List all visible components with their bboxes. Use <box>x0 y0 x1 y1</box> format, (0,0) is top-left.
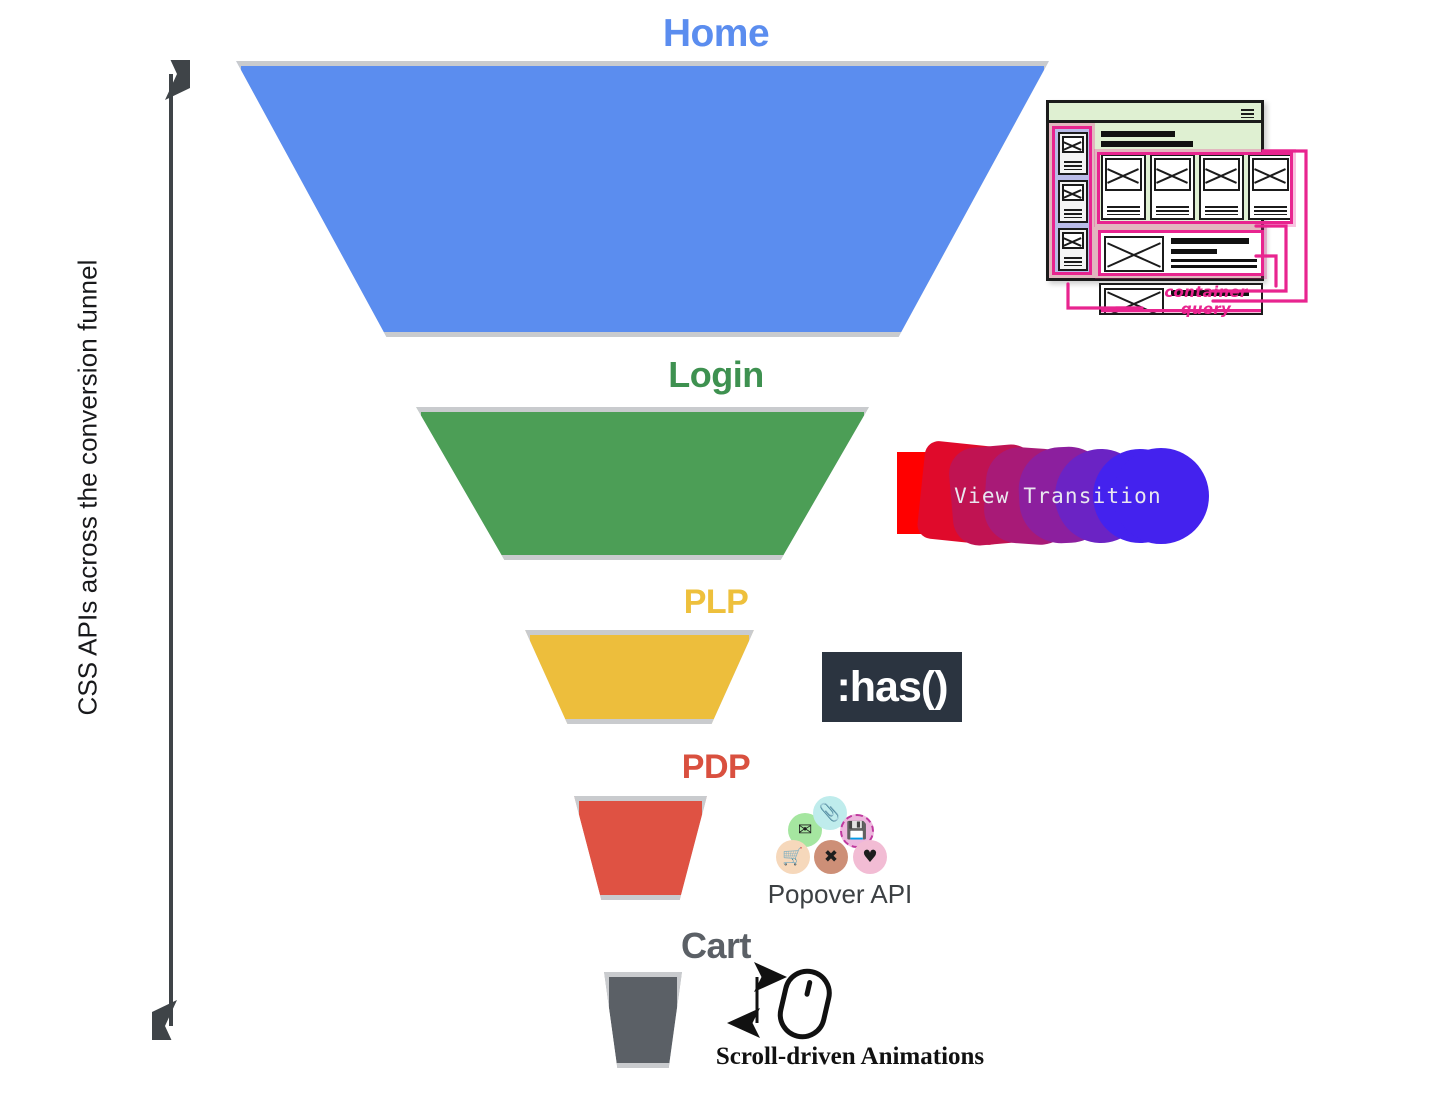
scroll-driven-annotation: Scroll-driven Animations <box>705 965 995 1080</box>
stage-label-pdp: PDP <box>0 748 1432 787</box>
has-selector-badge: :has() <box>822 652 962 722</box>
container-query-label-line2: query <box>1146 301 1266 318</box>
stage-label-cart: Cart <box>0 925 1432 967</box>
funnel-stage-cart[interactable] <box>604 972 682 1068</box>
scroll-driven-icon-group <box>743 965 873 1045</box>
popover-api-label: Popover API <box>745 879 935 910</box>
scroll-driven-label: Scroll-driven Animations <box>705 1043 995 1071</box>
diagram-canvas: CSS APIs across the conversion funnel Ho… <box>0 0 1432 1094</box>
funnel-stage-plp[interactable] <box>525 630 754 724</box>
container-query-label: container query <box>1146 284 1266 318</box>
conversion-funnel-axis-arrow <box>152 60 190 1040</box>
funnel-stage-home[interactable] <box>236 61 1049 337</box>
axis-label: CSS APIs across the conversion funnel <box>73 188 104 788</box>
heart-icon[interactable]: ♥ <box>853 840 887 874</box>
funnel-stage-pdp[interactable] <box>574 796 707 900</box>
computer-mouse-icon <box>776 967 834 1041</box>
stage-label-home: Home <box>0 12 1432 56</box>
shopping-cart-icon[interactable]: 🛒 <box>776 840 810 874</box>
container-query-label-line1: container <box>1146 284 1266 301</box>
view-transition-label: View Transition <box>893 484 1223 508</box>
stage-label-plp: PLP <box>0 583 1432 622</box>
funnel-stage-login[interactable] <box>416 407 869 560</box>
stage-label-login: Login <box>0 354 1432 396</box>
view-transition-annotation: View Transition <box>893 440 1223 555</box>
container-query-annotation: container query <box>1038 96 1323 346</box>
has-selector-label: :has() <box>836 663 947 712</box>
popover-api-annotation: ✉ 📎 💾 🛒 ✖ ♥ Popover API <box>745 792 935 917</box>
close-x-icon[interactable]: ✖ <box>814 840 848 874</box>
